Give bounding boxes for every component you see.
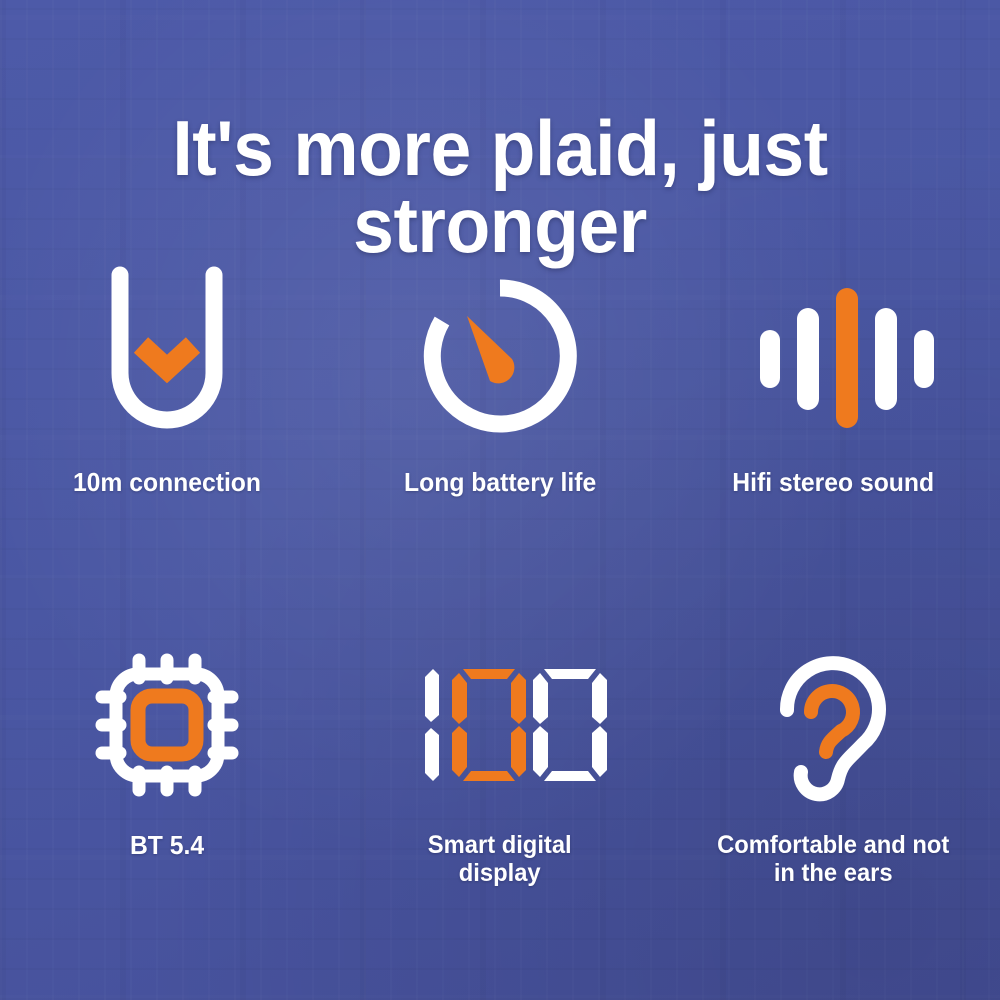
feature-label-bluetooth-version: BT 5.4 — [130, 831, 204, 860]
ear-icon — [768, 648, 898, 803]
feature-label-sound: Hifi stereo sound — [732, 468, 934, 497]
chip-processor-icon — [92, 650, 242, 800]
feature-label-battery: Long battery life — [404, 468, 596, 497]
seven-segment-display-icon — [405, 665, 595, 785]
battery-icon-box — [420, 262, 580, 452]
feature-item-digital-display: Smart digital display — [333, 607, 666, 952]
page-title: It's more plaid, just stronger — [30, 110, 970, 263]
bluetooth-connection-arc-icon — [92, 267, 242, 447]
feature-item-connection: 10m connection — [0, 262, 333, 607]
ear-icon-box — [768, 635, 898, 815]
feature-item-battery: Long battery life — [333, 262, 666, 607]
feature-label-connection: 10m connection — [73, 468, 261, 497]
feature-grid: 10m connection Long battery life — [0, 262, 1000, 952]
feature-label-digital-display: Smart digital display — [428, 831, 572, 887]
feature-item-comfort: Comfortable and not in the ears — [667, 607, 1000, 952]
chip-icon-box — [92, 635, 242, 815]
battery-gauge-icon — [420, 275, 580, 440]
feature-item-sound: Hifi stereo sound — [667, 262, 1000, 607]
feature-label-comfort: Comfortable and not in the ears — [717, 831, 949, 887]
sound-icon-box — [748, 262, 918, 452]
connection-icon-box — [92, 262, 242, 452]
audio-waveform-icon — [748, 282, 918, 432]
poster-canvas: It's more plaid, just stronger 10m conne… — [0, 0, 1000, 1000]
digital-display-icon-box — [405, 635, 595, 815]
feature-item-bluetooth-version: BT 5.4 — [0, 607, 333, 952]
